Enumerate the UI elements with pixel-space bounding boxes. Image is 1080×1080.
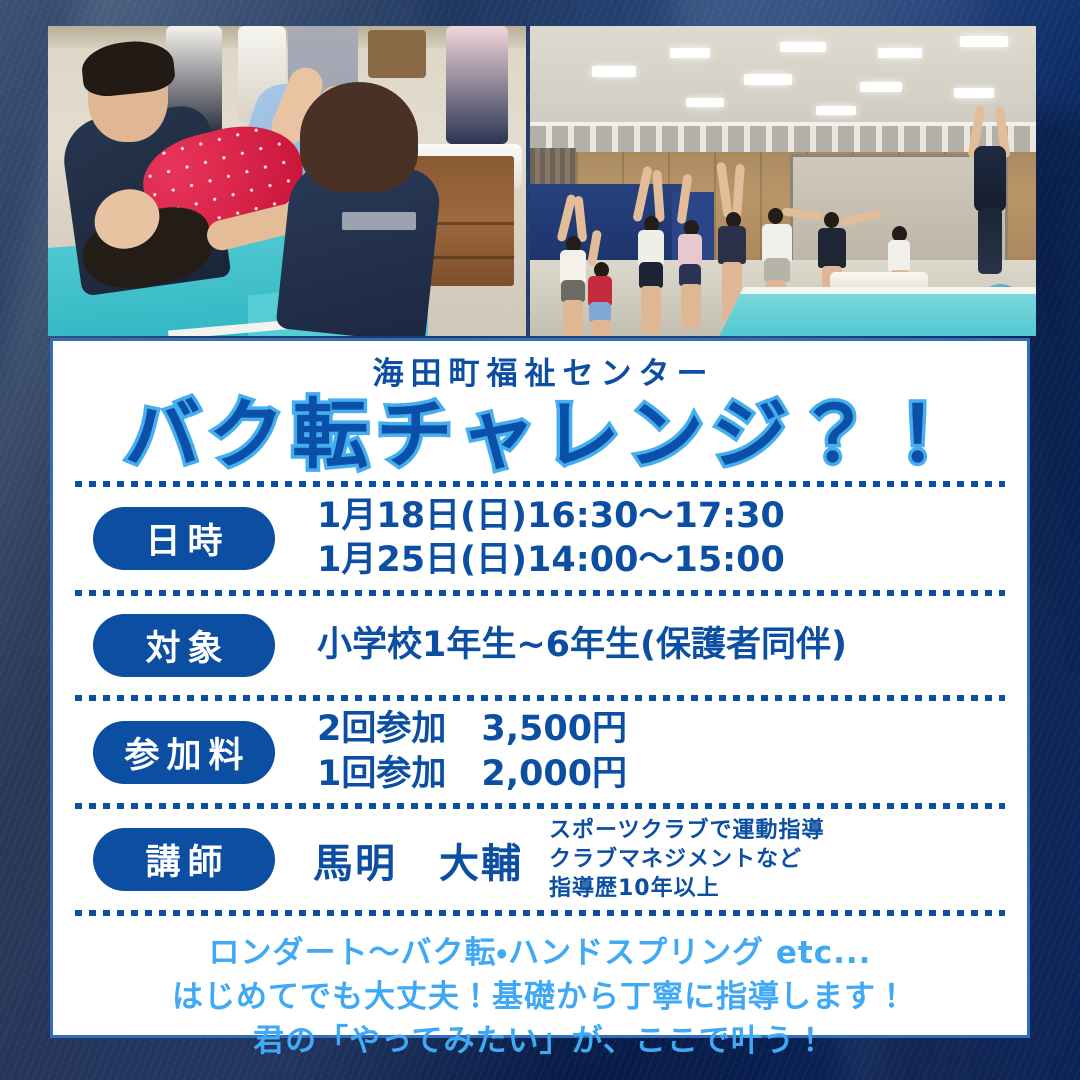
ceiling-light bbox=[780, 42, 826, 52]
instructor-bio-line-3: 指導歴10年以上 bbox=[549, 874, 1005, 903]
instructor-bio: スポーツクラブで運動指導 クラブマネジメントなど 指導歴10年以上 bbox=[549, 816, 1005, 904]
datetime-values: 1月18日(日)16:30〜17:30 1月25日(日)14:00〜15:00 bbox=[275, 494, 1005, 584]
target-line-1: 小学校1年生~6年生(保護者同伴) bbox=[317, 623, 1005, 668]
divider bbox=[75, 694, 1005, 701]
ceiling-light bbox=[686, 98, 724, 107]
instructor-values: 馬明 大輔 スポーツクラブで運動指導 クラブマネジメントなど 指導歴10年以上 bbox=[275, 816, 1005, 904]
background-chair bbox=[368, 30, 426, 78]
info-row-target: 対象 小学校1年生~6年生(保護者同伴) bbox=[75, 596, 1005, 694]
photo-strip bbox=[48, 26, 1036, 336]
footer-line-2: はじめてでも大丈夫！基礎から丁寧に指導します！ bbox=[75, 975, 1005, 1019]
instructor-bio-line-2: クラブマネジメントなど bbox=[549, 845, 1005, 874]
footer-line-3: 君の「やってみたい」が、ここで叶う！ bbox=[75, 1019, 1005, 1063]
divider bbox=[75, 910, 1005, 917]
fee-values: 2回参加 3,500円 1回参加 2,000円 bbox=[275, 707, 1005, 797]
divider bbox=[75, 589, 1005, 596]
instructor-bio-line-1: スポーツクラブで運動指導 bbox=[549, 816, 1005, 845]
assistant-shirt-logo bbox=[342, 212, 416, 230]
info-card: 海田町福祉センター バク転チャレンジ？！ 日時 1月18日(日)16:30〜17… bbox=[50, 338, 1030, 1038]
ceiling-light bbox=[954, 88, 994, 98]
datetime-line-1: 1月18日(日)16:30〜17:30 bbox=[317, 494, 1005, 539]
ceiling-light bbox=[878, 48, 922, 58]
fee-line-2: 1回参加 2,000円 bbox=[317, 752, 1005, 797]
photo-group-warmup bbox=[530, 26, 1036, 336]
info-row-datetime: 日時 1月18日(日)16:30〜17:30 1月25日(日)14:00〜15:… bbox=[75, 488, 1005, 590]
ceiling-light bbox=[670, 48, 710, 58]
stored-blue-equipment bbox=[530, 184, 690, 270]
background-person bbox=[446, 26, 508, 144]
footer-line-1: ロンダート〜バク転・ハンドスプリング etc... bbox=[75, 931, 1005, 975]
ceiling-light bbox=[960, 36, 1008, 47]
fee-line-1: 2回参加 3,500円 bbox=[317, 707, 1005, 752]
photo-coaching-backflip bbox=[48, 26, 526, 336]
instructor-name: 馬明 大輔 bbox=[313, 831, 549, 889]
divider bbox=[75, 803, 1005, 810]
page-title: バク転チャレンジ？！ bbox=[75, 393, 1005, 477]
poster-root: 海田町福祉センター バク転チャレンジ？！ 日時 1月18日(日)16:30〜17… bbox=[0, 0, 1080, 1080]
datetime-line-2: 1月25日(日)14:00〜15:00 bbox=[317, 538, 1005, 583]
assistant-hair bbox=[300, 82, 418, 192]
teal-air-track-mat bbox=[717, 287, 1036, 336]
label-datetime: 日時 bbox=[93, 507, 275, 570]
instructor-jumping bbox=[970, 112, 1010, 238]
target-values: 小学校1年生~6年生(保護者同伴) bbox=[275, 623, 1005, 668]
organizer-name: 海田町福祉センター bbox=[75, 357, 1005, 391]
ceiling-light bbox=[744, 74, 792, 85]
label-instructor: 講師 bbox=[93, 828, 275, 891]
ceiling-light bbox=[860, 82, 902, 92]
info-row-instructor: 講師 馬明 大輔 スポーツクラブで運動指導 クラブマネジメントなど 指導歴10年… bbox=[75, 810, 1005, 910]
label-target: 対象 bbox=[93, 614, 275, 677]
divider bbox=[75, 481, 1005, 488]
footer-message: ロンダート〜バク転・ハンドスプリング etc... はじめてでも大丈夫！基礎から… bbox=[75, 917, 1005, 1063]
info-row-fee: 参加料 2回参加 3,500円 1回参加 2,000円 bbox=[75, 701, 1005, 803]
label-fee: 参加料 bbox=[93, 721, 275, 784]
ceiling-light bbox=[592, 66, 636, 77]
ceiling-light bbox=[816, 106, 856, 115]
